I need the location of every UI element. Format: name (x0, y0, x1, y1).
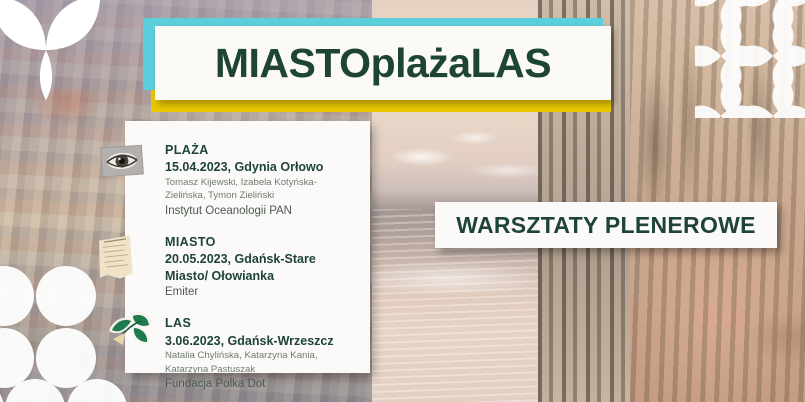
title-plate: MIASTOplażaLAS (155, 26, 611, 100)
event-date-location: 3.06.2023, Gdańsk-Wrzeszcz (165, 333, 352, 350)
subtitle-text: WARSZTATY PLENEROWE (456, 212, 756, 239)
events-card: PLAŻA 15.04.2023, Gdynia Orłowo Tomasz K… (125, 121, 370, 373)
event-people: Tomasz Kijewski, Izabela Kotyńska-Zieliń… (165, 176, 352, 203)
subtitle-plate: WARSZTATY PLENEROWE (435, 202, 777, 248)
event-organizer: Fundacja Polka Dot (165, 376, 352, 393)
event-date-location: 20.05.2023, Gdańsk-Stare Miasto/ Ołowian… (165, 251, 352, 284)
forest-path-photo-panel (630, 0, 805, 402)
event-organizer: Instytut Oceanologii PAN (165, 203, 352, 220)
event-people: Natalia Chylińska, Katarzyna Kania, Kata… (165, 349, 352, 376)
event-block-las: LAS 3.06.2023, Gdańsk-Wrzeszcz Natalia C… (165, 314, 352, 393)
event-block-plaza: PLAŻA 15.04.2023, Gdynia Orłowo Tomasz K… (165, 141, 352, 220)
event-organizer: Emiter (165, 284, 352, 301)
event-name: LAS (165, 314, 352, 332)
torn-paper-sticker (96, 235, 136, 281)
page-title: MIASTOplażaLAS (215, 40, 551, 87)
eye-photo-sticker (100, 145, 144, 178)
subtitle-banner: WARSZTATY PLENEROWE (435, 202, 777, 248)
event-block-miasto: MIASTO 20.05.2023, Gdańsk-Stare Miasto/ … (165, 233, 352, 301)
event-date-location: 15.04.2023, Gdynia Orłowo (165, 159, 352, 176)
event-name: MIASTO (165, 233, 352, 251)
green-leaf-sticker (107, 307, 155, 351)
event-name: PLAŻA (165, 141, 352, 159)
title-banner: MIASTOplażaLAS (143, 18, 611, 108)
poster: MIASTOplażaLAS PLAŻA 15.04.2023, Gdynia … (0, 0, 805, 402)
